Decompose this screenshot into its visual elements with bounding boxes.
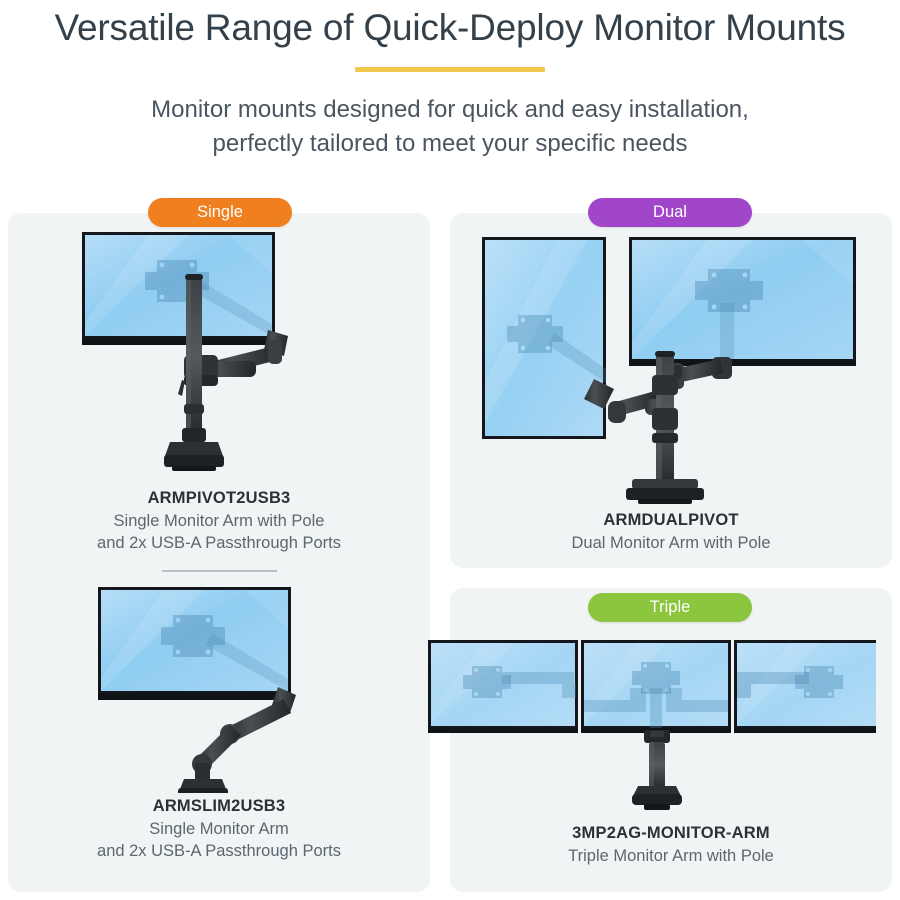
badge-single: Single (148, 198, 292, 227)
product-desc-line-1: Single Monitor Arm with Pole (8, 511, 430, 533)
product-description: Triple Monitor Arm with Pole (450, 846, 892, 868)
product-description: Single Monitor Arm and 2x USB-A Passthro… (8, 819, 430, 863)
product-description: Dual Monitor Arm with Pole (450, 533, 892, 555)
product-desc-line-1: Single Monitor Arm (8, 819, 430, 841)
product-sku: ARMDUALPIVOT (450, 511, 892, 530)
illustration-single-pole-arm (78, 228, 368, 483)
illustration-dual-pole-arm (462, 233, 882, 505)
product-sku: 3MP2AG-MONITOR-ARM (450, 824, 892, 843)
product-desc-line-1: Triple Monitor Arm with Pole (450, 846, 892, 868)
product-description: Single Monitor Arm with Pole and 2x USB-… (8, 511, 430, 555)
product-sku: ARMSLIM2USB3 (8, 797, 430, 816)
left-column-divider (162, 570, 277, 572)
product-desc-line-2: and 2x USB-A Passthrough Ports (8, 841, 430, 863)
caption-armdualpivot: ARMDUALPIVOT Dual Monitor Arm with Pole (450, 511, 892, 555)
illustration-single-slim-arm (78, 583, 368, 793)
product-desc-line-2: and 2x USB-A Passthrough Ports (8, 533, 430, 555)
caption-armpivot2usb3: ARMPIVOT2USB3 Single Monitor Arm with Po… (8, 489, 430, 555)
product-sku: ARMPIVOT2USB3 (8, 489, 430, 508)
illustration-triple-pole-arm (424, 630, 876, 818)
badge-triple: Triple (588, 593, 752, 622)
badge-dual: Dual (588, 198, 752, 227)
caption-3mp2ag-monitor-arm: 3MP2AG-MONITOR-ARM Triple Monitor Arm wi… (450, 824, 892, 868)
product-desc-line-1: Dual Monitor Arm with Pole (450, 533, 892, 555)
caption-armslim2usb3: ARMSLIM2USB3 Single Monitor Arm and 2x U… (8, 797, 430, 863)
